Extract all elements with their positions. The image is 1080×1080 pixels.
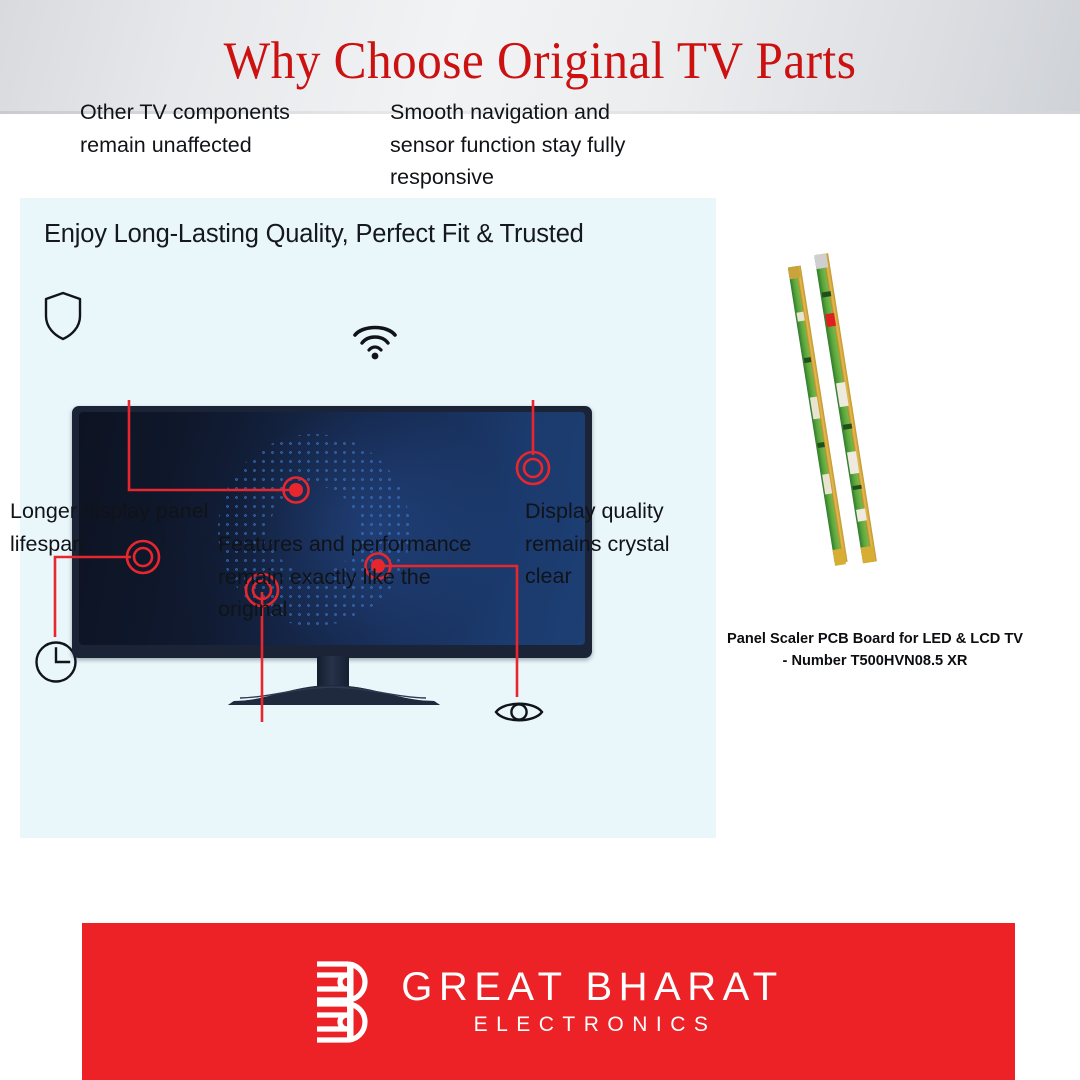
tv-stand-base: [224, 684, 444, 706]
wifi-icon: [350, 320, 400, 360]
panel-heading: Enjoy Long-Lasting Quality, Perfect Fit …: [44, 220, 584, 249]
infographic-page: Why Choose Original TV Parts Enjoy Long-…: [0, 0, 1080, 1080]
brand-name: GREAT BHARAT: [401, 964, 784, 1010]
brand-subtitle: ELECTRONICS: [469, 1010, 717, 1040]
feature-text-longer-lifespan: Longer display panel lifespan: [10, 495, 210, 560]
page-title: Why Choose Original TV Parts: [38, 30, 1042, 92]
pcb-strip-back: [788, 266, 848, 566]
pcb-strip-front: [814, 253, 877, 563]
product-caption-line1: Panel Scaler PCB Board for LED & LCD TV: [700, 628, 1050, 650]
footer-brand-bar: GREAT BHARAT ELECTRONICS: [82, 923, 1015, 1080]
feature-text-features-performance: Features and performance remain exactly …: [218, 528, 498, 626]
great-bharat-b-logo-icon: [313, 954, 375, 1050]
product-caption: Panel Scaler PCB Board for LED & LCD TV …: [700, 628, 1050, 672]
brand-text: GREAT BHARAT ELECTRONICS: [401, 964, 784, 1040]
product-caption-line2: - Number T500HVN08.5 XR: [700, 650, 1050, 672]
brand-logo-row: GREAT BHARAT ELECTRONICS: [82, 923, 1015, 1080]
feature-text-other-components: Other TV components remain unaffected: [80, 96, 330, 161]
shield-icon: [42, 290, 84, 342]
feature-text-smooth-navigation: Smooth navigation and sensor function st…: [390, 96, 640, 194]
feature-text-display-quality: Display quality remains crystal clear: [525, 495, 715, 593]
product-image-pcb-board: [755, 240, 965, 580]
